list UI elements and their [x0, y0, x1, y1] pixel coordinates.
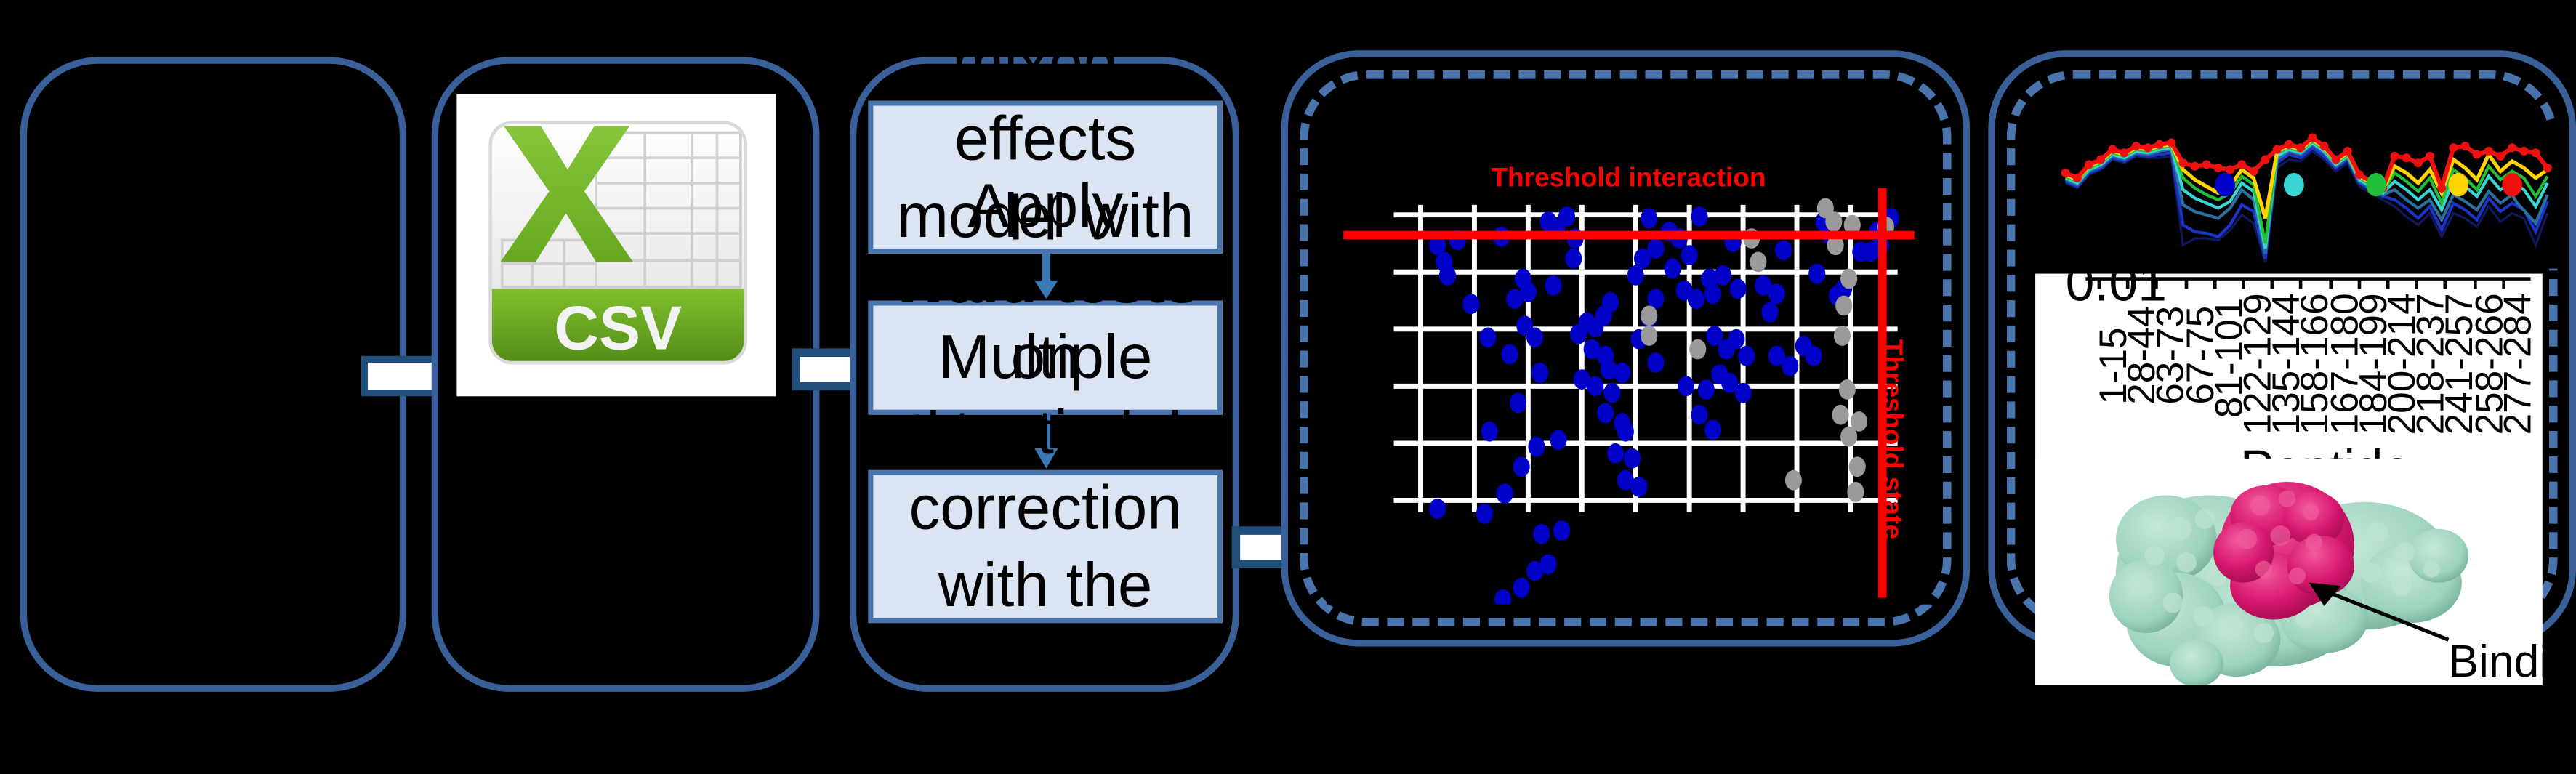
threshold-state-label: Threshold state	[1876, 339, 1907, 539]
volcano-plot: Threshold interaction	[1327, 101, 1931, 605]
binding-interface-line1: Binding	[2448, 634, 2542, 685]
legend-dot-1	[2215, 173, 2235, 196]
x-tick-14: 277-284	[2495, 293, 2540, 435]
figure-canvas: CSV Fit a linear mixed-effects model wit…	[0, 0, 2576, 687]
peptide-chart-svg	[2058, 126, 2562, 268]
binding-interface-label: Binding interface	[2448, 634, 2542, 685]
legend-dot-4	[2448, 173, 2468, 196]
legend-dot-2	[2284, 173, 2304, 196]
multiple-testing-box[interactable]: Multiple testingcorrectionwith the BH pr…	[868, 470, 1222, 623]
multiple-testing-text: Multiple testingcorrectionwith the BH pr…	[890, 319, 1200, 774]
input-panel	[20, 57, 406, 692]
csv-icon-label: CSV	[554, 294, 682, 363]
csv-file-icon[interactable]: CSV	[456, 94, 776, 396]
legend-dot-5	[2502, 173, 2522, 196]
peptide-axis-and-structure: 0.01 1-15 28-44 63-73 67-75 81-101 122-1…	[2035, 274, 2543, 685]
legend-dot-3	[2366, 173, 2386, 196]
peptide-line-chart	[2058, 126, 2562, 268]
volcano-significant-points	[1429, 206, 1899, 605]
csv-icon: CSV	[456, 94, 776, 396]
